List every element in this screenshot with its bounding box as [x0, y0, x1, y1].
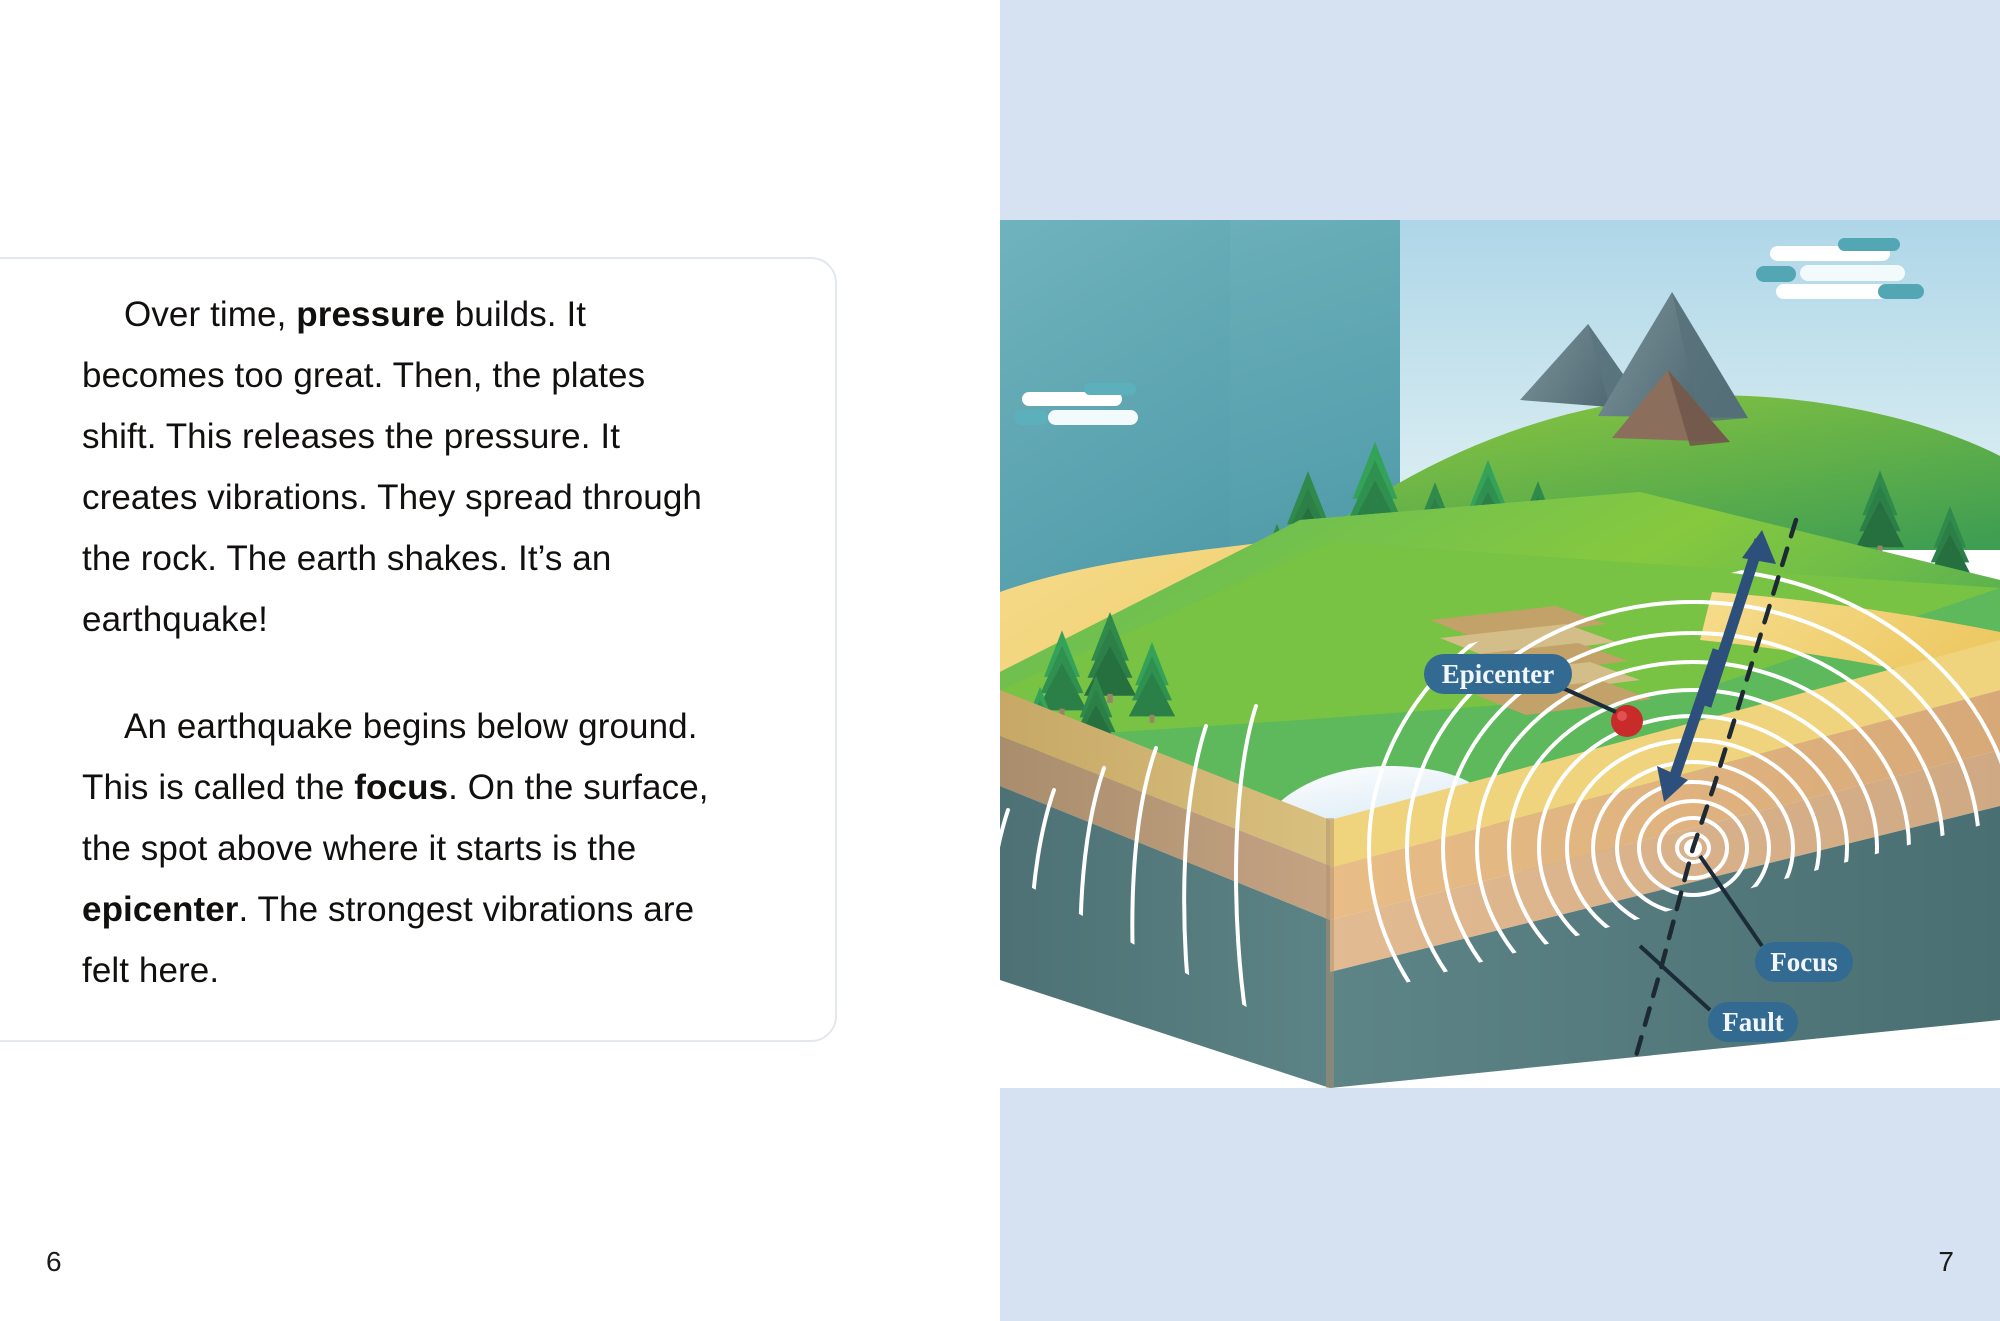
bold-term: focus	[354, 768, 448, 807]
label-fault[interactable]: Fault	[1708, 1002, 1798, 1042]
label-epicenter[interactable]: Epicenter	[1424, 654, 1572, 694]
bold-term: pressure	[296, 295, 445, 334]
page-number-right: 7	[1938, 1246, 1954, 1278]
label-focus-text: Focus	[1770, 947, 1838, 977]
bold-term: epicenter	[82, 890, 239, 929]
text-run: builds. It becomes too great. Then, the …	[82, 295, 702, 639]
paragraph-pressure: Over time, pressure builds. It becomes t…	[82, 284, 722, 650]
page-number-left: 6	[46, 1246, 62, 1278]
text-card: Over time, pressure builds. It becomes t…	[0, 257, 837, 1042]
book-spread: Over time, pressure builds. It becomes t…	[0, 0, 2000, 1321]
text-run: Over time,	[124, 295, 296, 334]
label-epicenter-text: Epicenter	[1442, 659, 1554, 689]
paragraph-focus: An earthquake begins below ground. This …	[82, 696, 722, 1001]
illustration-panel: Epicenter Focus Fault	[1000, 220, 2000, 1088]
body-copy: Over time, pressure builds. It becomes t…	[82, 284, 722, 1001]
epicenter-dot-highlight	[1617, 711, 1627, 721]
right-page: Epicenter Focus Fault 7	[1000, 0, 2000, 1321]
block-front-edge	[1326, 818, 1334, 1088]
label-focus[interactable]: Focus	[1755, 942, 1853, 982]
left-page: Over time, pressure builds. It becomes t…	[0, 0, 1000, 1321]
label-fault-text: Fault	[1722, 1007, 1784, 1037]
earthquake-diagram-svg: Epicenter Focus Fault	[1000, 220, 2000, 1088]
cloud-icon-right	[1756, 238, 1924, 299]
